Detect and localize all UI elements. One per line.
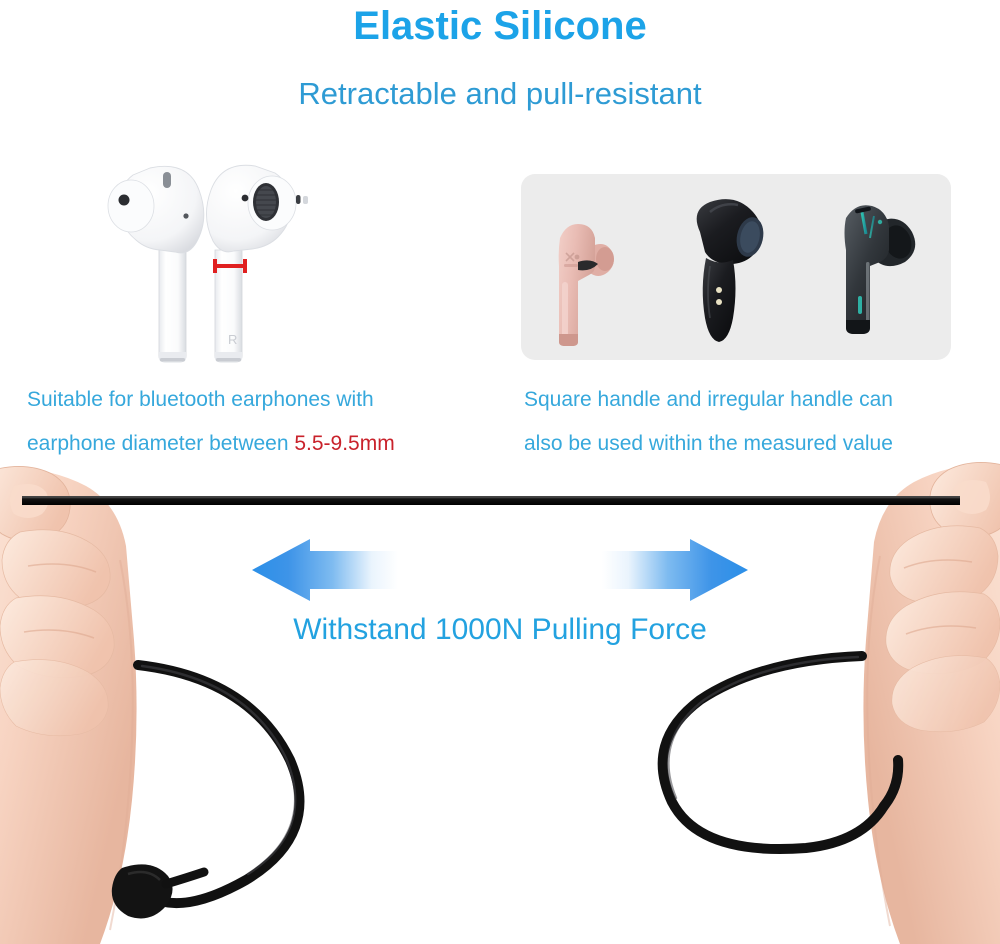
pulling-force-caption: Withstand 1000N Pulling Force bbox=[0, 608, 1000, 652]
page-subtitle: Retractable and pull-resistant bbox=[0, 74, 1000, 114]
left-feature-caption: Suitable for bluetooth earphones with ea… bbox=[27, 378, 395, 466]
left-caption-line1: Suitable for bluetooth earphones with bbox=[27, 378, 395, 422]
left-caption-line2-text: earphone diameter between bbox=[27, 432, 294, 455]
microphone-hole bbox=[183, 213, 188, 218]
right-channel-label: R bbox=[228, 332, 237, 347]
speaker-mesh bbox=[253, 183, 279, 221]
left-hand bbox=[0, 466, 137, 944]
right-feature-caption: Square handle and irregular handle can a… bbox=[524, 378, 893, 466]
airpod-left bbox=[108, 166, 204, 362]
pulling-force-illustration bbox=[0, 0, 1000, 944]
left-caption-line2: earphone diameter between 5.5-9.5mm bbox=[27, 422, 395, 466]
strap-loop-section bbox=[138, 656, 898, 912]
strap-endcap bbox=[112, 864, 204, 918]
strap-taut-section bbox=[22, 496, 960, 505]
optical-sensor bbox=[119, 195, 130, 206]
earbud-showcase-panel bbox=[521, 174, 951, 360]
diameter-range: 5.5-9.5mm bbox=[294, 432, 394, 455]
speaker-grille bbox=[163, 172, 171, 188]
arrow-right bbox=[602, 539, 748, 601]
earbuds-illustration bbox=[0, 0, 1000, 944]
right-caption-line1: Square handle and irregular handle can bbox=[524, 378, 893, 422]
arrow-left bbox=[252, 539, 398, 601]
right-hand bbox=[863, 462, 1000, 944]
infographic-canvas: Elastic Silicone Retractable and pull-re… bbox=[0, 0, 1000, 944]
diameter-dimension-marker bbox=[215, 259, 245, 273]
optical-sensor bbox=[242, 195, 249, 202]
airpod-right: R bbox=[206, 165, 308, 362]
right-caption-line2: also be used within the measured value bbox=[524, 422, 893, 466]
airpods-illustration: R bbox=[0, 0, 1000, 944]
page-title: Elastic Silicone bbox=[0, 2, 1000, 50]
